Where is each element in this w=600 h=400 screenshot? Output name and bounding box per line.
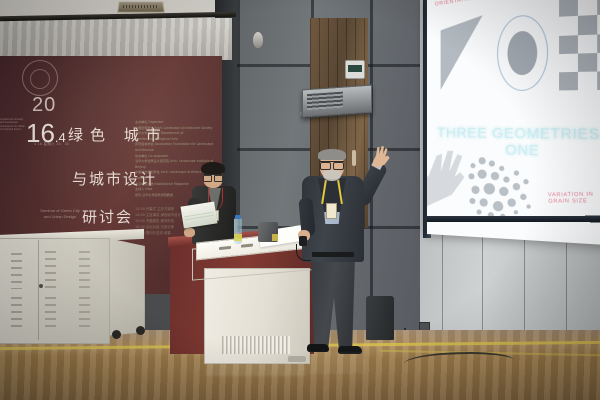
figure-checkerboard bbox=[559, 0, 600, 90]
door-handle[interactable] bbox=[352, 150, 356, 166]
speaker-shoe bbox=[307, 344, 329, 352]
figure-circle-in-ellipse bbox=[497, 14, 548, 91]
banner-year: 20 bbox=[32, 94, 56, 117]
lectern-control-slot[interactable] bbox=[241, 244, 253, 248]
banner-program-line: 清华大学建筑学院 Department of Architecture, Tsi… bbox=[135, 131, 215, 142]
speaker-beard bbox=[323, 170, 341, 181]
cabinet-vent bbox=[79, 251, 90, 289]
cabinet-lock-icon[interactable] bbox=[39, 284, 43, 288]
water-bottle-cap bbox=[235, 215, 241, 219]
cabinet-vent bbox=[79, 297, 90, 331]
glasses-icon bbox=[320, 161, 344, 168]
banner-english-header: Architecture Society and Landscape Confe… bbox=[0, 118, 26, 132]
speaker-badge bbox=[326, 203, 337, 219]
wall-control-panel[interactable] bbox=[345, 60, 365, 79]
air-conditioner bbox=[302, 85, 372, 118]
cabinet-door-seam bbox=[38, 240, 39, 340]
waste-bin bbox=[366, 296, 394, 340]
water-bottle-label bbox=[234, 234, 242, 241]
equipment-cabinet[interactable] bbox=[0, 238, 110, 344]
air-conditioner-grille bbox=[307, 92, 343, 111]
cabinet-vent bbox=[45, 297, 56, 331]
cabinet-vent bbox=[11, 253, 22, 289]
floor-reflection bbox=[206, 362, 306, 376]
slide-title: THREE GEOMETRIES + ONE bbox=[435, 124, 600, 160]
figure-triangle-wedge bbox=[441, 15, 483, 90]
camera-pouch-tab bbox=[272, 234, 278, 241]
slide-label-orientation: ORIENTATION bbox=[435, 0, 476, 8]
lectern-control-slot[interactable] bbox=[219, 246, 231, 250]
banner-program-line: 风景园林学会 Association Foundation for Landsc… bbox=[135, 142, 215, 153]
university-seal-icon bbox=[22, 60, 58, 96]
banner-headline-3: 研讨会 bbox=[82, 206, 133, 227]
slide-label-grain: VARIATION IN GRAIN SIZE bbox=[548, 191, 600, 205]
speaker-belt bbox=[312, 252, 354, 257]
cabinet-caster bbox=[136, 326, 145, 335]
wall-speaker-icon bbox=[253, 32, 263, 48]
cabinet-caster bbox=[112, 330, 121, 339]
lectern-vent bbox=[222, 336, 290, 354]
photo-scene: 20 Architecture Society and Landscape Co… bbox=[0, 0, 600, 400]
figure-grain-dots bbox=[468, 157, 541, 220]
banner-date-line: 4.16 星期六 13：30 bbox=[34, 141, 69, 146]
glasses-icon bbox=[203, 174, 223, 180]
stage-curtain bbox=[0, 18, 232, 60]
ceiling-air-vent-icon bbox=[117, 2, 165, 13]
screen-bottom-bar bbox=[427, 216, 600, 223]
cabinet-vent bbox=[11, 297, 22, 329]
speaker-hair bbox=[318, 149, 346, 160]
projection-screen: ORIENTATION Scale THREE GEOMETRIES + ONE bbox=[427, 0, 600, 246]
banner-subtitle-en: Seminar of Green City and Urban Design bbox=[38, 208, 82, 219]
cabinet-side-panel bbox=[107, 236, 145, 336]
floor-cable bbox=[404, 352, 514, 372]
floor-reflection bbox=[0, 342, 108, 352]
cabinet-vent bbox=[45, 251, 56, 289]
moderator-hand bbox=[184, 228, 195, 237]
floor-reflection bbox=[308, 352, 364, 374]
